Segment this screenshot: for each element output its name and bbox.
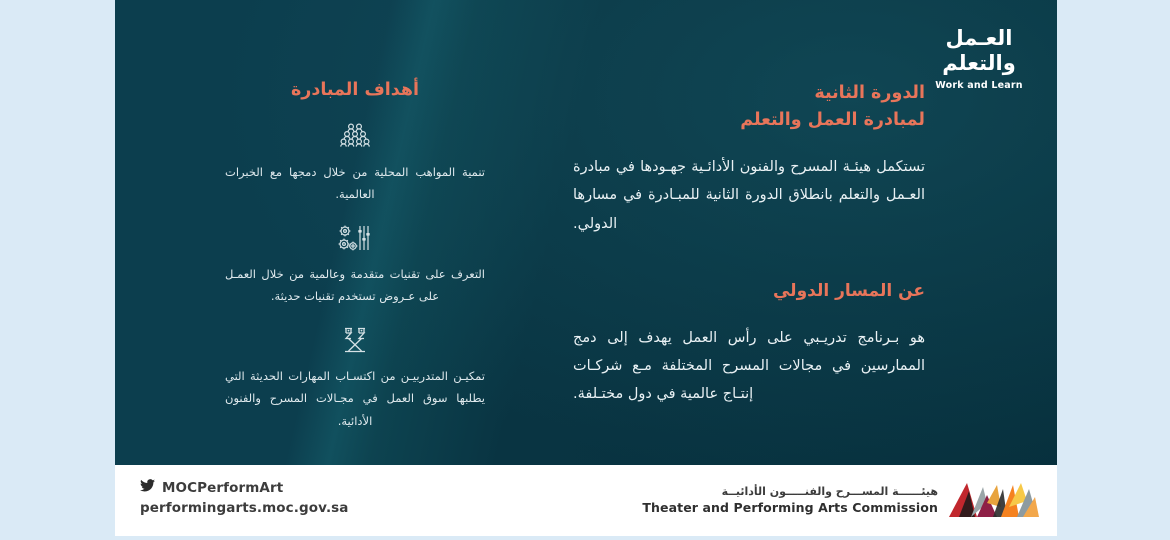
main-heading-line1: الدورة الثانية (814, 83, 925, 103)
goal-text: التعرف على تقنيات متقدمة وعالمية من خلال… (225, 263, 485, 308)
twitter-bird-icon (140, 479, 155, 496)
logo-arabic-text: العـمل والتعلم (919, 26, 1039, 76)
section-paragraph: هو بـرنامج تدريـبي على رأس العمل يهدف إل… (573, 324, 925, 409)
goal-item: تنمية المواهب المحلية من خلال دمجها مع ا… (225, 122, 485, 206)
commission-english-name: Theater and Performing Arts Commission (642, 500, 938, 515)
logo-english-text: Work and Learn (919, 80, 1039, 91)
twitter-handle-text: MOCPerformArt (162, 480, 283, 496)
commission-branding: هيئــــــة المســـرح والفنـــــون الأدائ… (642, 477, 1039, 523)
goals-heading: أهداف المبادرة (225, 80, 485, 100)
logo-arabic-line2: والتعلم (919, 51, 1039, 76)
commission-text: هيئــــــة المســـرح والفنـــــون الأدائ… (642, 485, 938, 516)
stage-lighting-truss-icon (225, 326, 485, 356)
main-heading: الدورة الثانية لمبادرة العمل والتعلم (573, 80, 925, 133)
goal-item: تمكيـن المتدربيـن من اكتسـاب المهارات ال… (225, 326, 485, 432)
logo-arabic-line1: العـمل (919, 26, 1039, 51)
main-content-column: الدورة الثانية لمبادرة العمل والتعلم تست… (573, 80, 925, 409)
goals-column: أهداف المبادرة تنمية المواه (225, 80, 485, 450)
poster-canvas: العـمل والتعلم Work and Learn الدورة الث… (0, 0, 1170, 540)
poster-card: العـمل والتعلم Work and Learn الدورة الث… (115, 0, 1057, 536)
footer-social-block: MOCPerformArt performingarts.moc.gov.sa (140, 479, 349, 516)
poster-footer: MOCPerformArt performingarts.moc.gov.sa … (115, 465, 1057, 536)
website-url[interactable]: performingarts.moc.gov.sa (140, 500, 349, 516)
section-heading-international-track: عن المسار الدولي (573, 280, 925, 304)
commission-arabic-name: هيئــــــة المســـرح والفنـــــون الأدائ… (642, 485, 938, 499)
work-and-learn-logo: العـمل والتعلم Work and Learn (919, 26, 1039, 91)
people-group-icon (225, 122, 485, 152)
goal-text: تنمية المواهب المحلية من خلال دمجها مع ا… (225, 161, 485, 206)
goal-item: التعرف على تقنيات متقدمة وعالمية من خلال… (225, 224, 485, 308)
twitter-handle-row[interactable]: MOCPerformArt (140, 479, 349, 496)
main-paragraph: تستكمل هيئـة المسرح والفنون الأدائـية جه… (573, 153, 925, 238)
gears-sliders-icon (225, 224, 485, 254)
theater-commission-logo (947, 477, 1039, 523)
goal-text: تمكيـن المتدربيـن من اكتسـاب المهارات ال… (225, 365, 485, 432)
dark-content-area: العـمل والتعلم Work and Learn الدورة الث… (115, 0, 1057, 465)
main-heading-line2: لمبادرة العمل والتعلم (740, 110, 925, 130)
